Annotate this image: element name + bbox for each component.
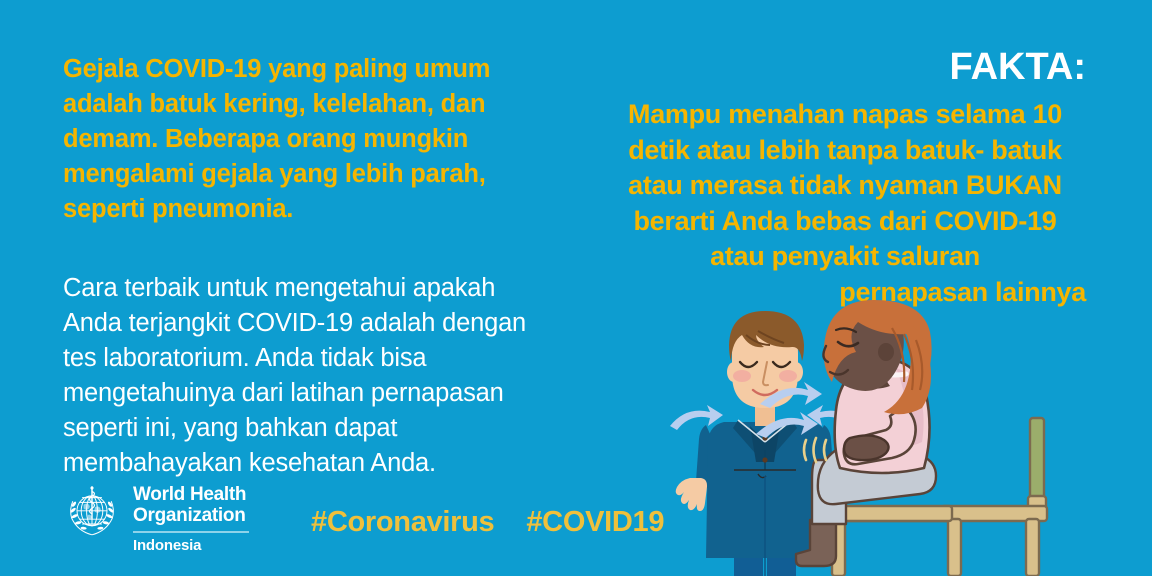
who-name-line1: World Health <box>133 484 249 505</box>
symptoms-paragraph: Gejala COVID-19 yang paling umum adalah … <box>63 52 553 227</box>
poster-canvas: Gejala COVID-19 yang paling umum adalah … <box>0 0 1152 576</box>
hashtag-group: #Coronavirus #COVID19 <box>311 506 664 539</box>
who-country-label: Indonesia <box>133 537 249 554</box>
advice-paragraph: Cara terbaik untuk mengetahui apakah And… <box>63 271 553 481</box>
fakta-heading: FAKTA: <box>604 45 1086 89</box>
who-logo: World Health Organization Indonesia <box>62 482 249 554</box>
who-divider <box>133 531 249 533</box>
left-text-column: Gejala COVID-19 yang paling umum adalah … <box>63 52 553 481</box>
right-text-column: FAKTA: Mampu menahan napas selama 10 det… <box>604 45 1086 310</box>
fakta-body-line: Mampu menahan napas selama <box>628 99 1025 129</box>
who-name-line2: Organization <box>133 505 249 526</box>
who-emblem-icon <box>62 482 122 542</box>
who-wordmark: World Health Organization Indonesia <box>133 482 249 554</box>
hashtag-covid19[interactable]: #COVID19 <box>526 506 664 539</box>
illustration-area <box>660 300 1152 576</box>
hashtag-coronavirus[interactable]: #Coronavirus <box>311 506 494 539</box>
fakta-body: Mampu menahan napas selama 10 detik atau… <box>604 97 1086 310</box>
